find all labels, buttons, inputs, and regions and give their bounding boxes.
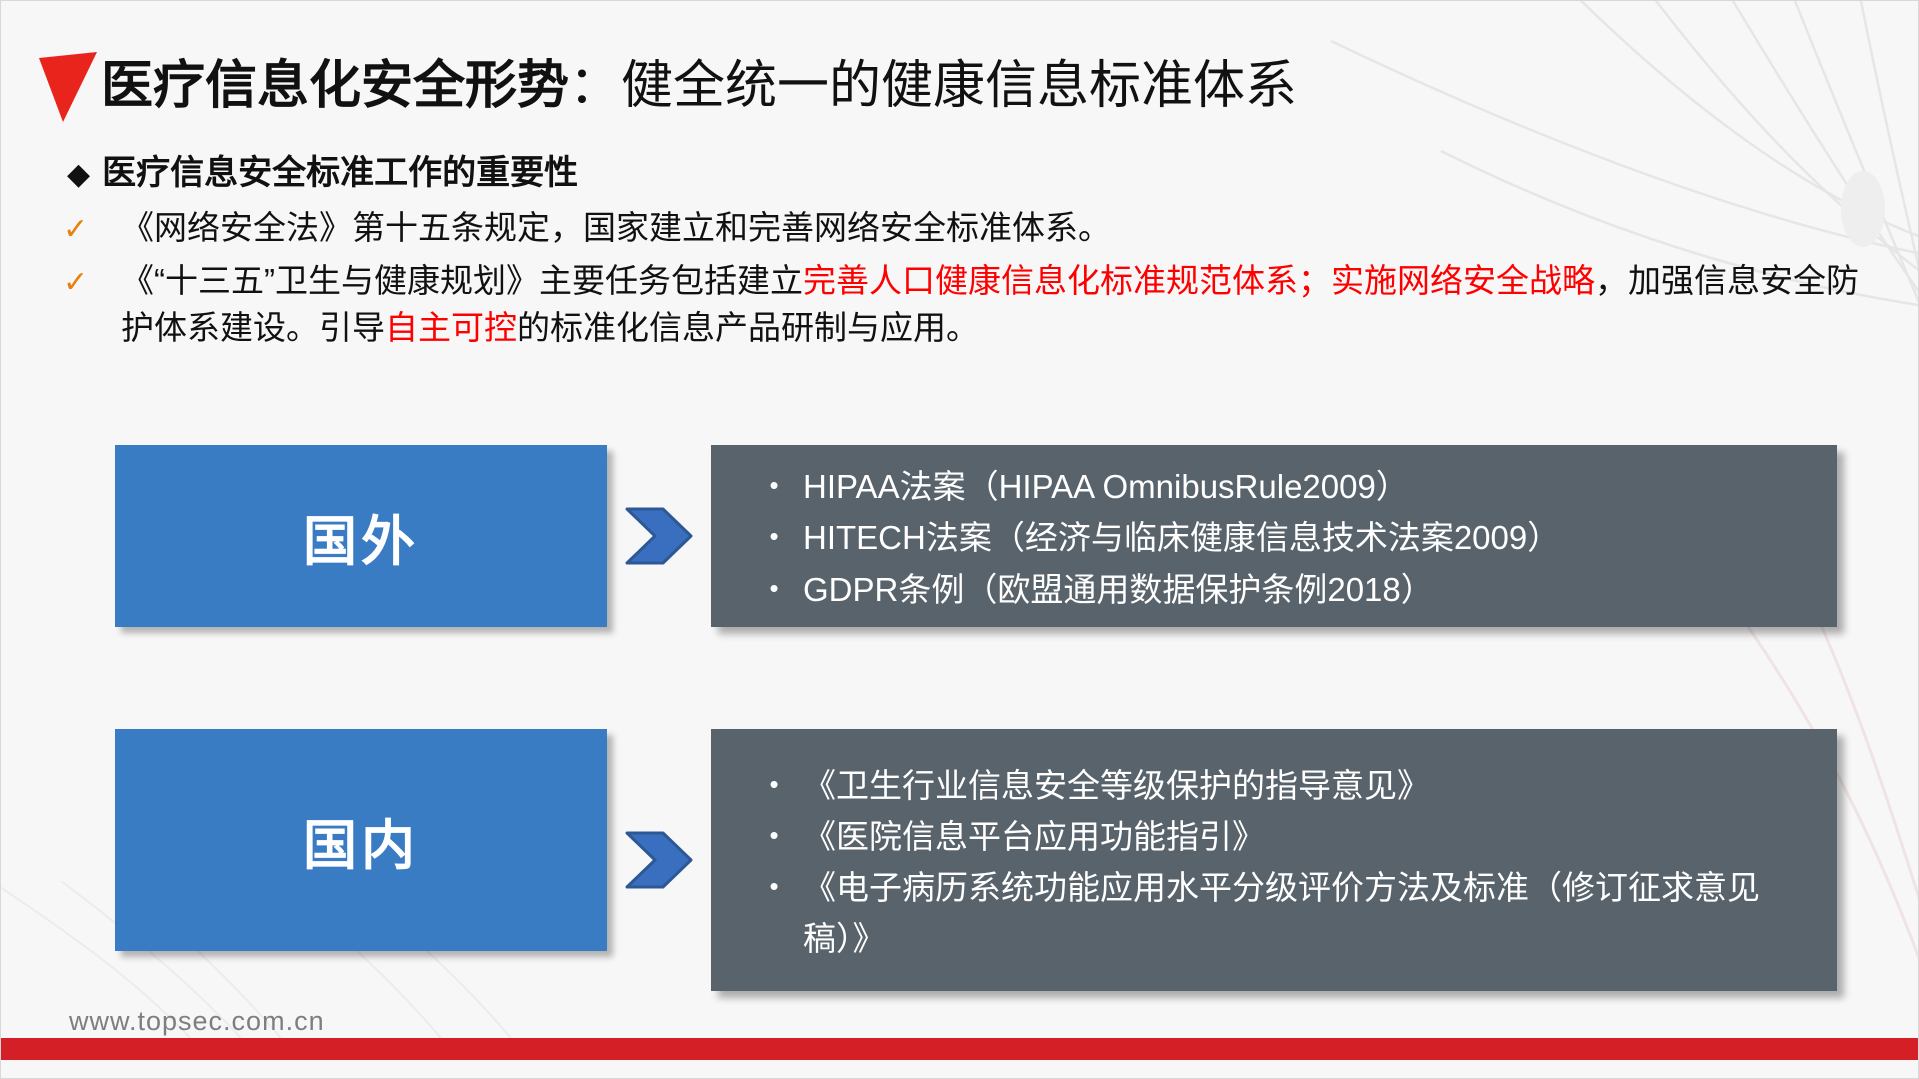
category-row-domestic: 国内 • 《卫生行业信息安全等级保护的指导意见》 • 《医院信息平台应用功能指引… (115, 729, 1837, 991)
arrow-connector (607, 729, 711, 991)
list-item-text: 《卫生行业信息安全等级保护的指导意见》 (803, 760, 1811, 811)
list-item-text: HIPAA法案（HIPAA OmnibusRule2009） (803, 461, 1811, 512)
page-title-rest: 健全统一的健康信息标准体系 (621, 57, 1297, 115)
page-title-separator: ： (569, 57, 621, 115)
category-label-text: 国内 (303, 801, 419, 880)
bullet-dot-icon: • (745, 760, 803, 808)
section-subtitle-text: 医疗信息安全标准工作的重要性 (102, 154, 578, 192)
bullet-dot-icon: • (745, 512, 803, 560)
bullet-segment-highlight: 完善人口健康信息化标准规范体系；实施网络安全战略 (803, 262, 1595, 299)
list-item: • 《卫生行业信息安全等级保护的指导意见》 (711, 760, 1837, 811)
page-title-bold: 医疗信息化安全形势 (101, 57, 569, 115)
bullet-dot-icon: • (745, 862, 803, 910)
list-item-text: 《电子病历系统功能应用水平分级评价方法及标准（修订征求意见稿）》 (803, 862, 1811, 964)
check-icon: ✓ (63, 205, 121, 252)
bullet-item: ✓ 《网络安全法》第十五条规定，国家建立和完善网络安全标准体系。 (63, 205, 1873, 252)
category-label-box[interactable]: 国外 (115, 445, 607, 627)
arrow-connector (607, 445, 711, 627)
list-item: • 《医院信息平台应用功能指引》 (711, 811, 1837, 862)
bullet-text: 《网络安全法》第十五条规定，国家建立和完善网络安全标准体系。 (121, 205, 1873, 252)
bullet-dot-icon: • (745, 811, 803, 859)
list-item: • HITECH法案（经济与临床健康信息技术法案2009） (711, 512, 1837, 563)
page-title: 医疗信息化安全形势：健全统一的健康信息标准体系 (101, 60, 1297, 112)
category-content-box: • 《卫生行业信息安全等级保护的指导意见》 • 《医院信息平台应用功能指引》 •… (711, 729, 1837, 991)
footer-white-strip (1, 1060, 1918, 1078)
red-triangle-icon (1, 46, 101, 126)
bullet-segment-highlight: 自主可控 (385, 309, 517, 346)
list-item: • HIPAA法案（HIPAA OmnibusRule2009） (711, 461, 1837, 512)
list-item-text: 《医院信息平台应用功能指引》 (803, 811, 1811, 862)
chevron-right-icon (623, 505, 695, 567)
list-item-text: GDPR条例（欧盟通用数据保护条例2018） (803, 564, 1811, 615)
bullet-text: 《“十三五”卫生与健康规划》主要任务包括建立完善人口健康信息化标准规范体系；实施… (121, 258, 1873, 352)
bullet-segment: 《“十三五”卫生与健康规划》主要任务包括建立 (121, 262, 803, 299)
footer-red-bar (1, 1038, 1918, 1060)
diamond-bullet-icon: ◆ (67, 158, 90, 191)
category-label-text: 国外 (303, 497, 419, 576)
bullet-segment: 的标准化信息产品研制与应用。 (517, 309, 979, 346)
bullet-list: ✓ 《网络安全法》第十五条规定，国家建立和完善网络安全标准体系。 ✓ 《“十三五… (63, 205, 1873, 352)
list-item: • GDPR条例（欧盟通用数据保护条例2018） (711, 564, 1837, 615)
list-item: • 《电子病历系统功能应用水平分级评价方法及标准（修订征求意见稿）》 (711, 862, 1837, 964)
category-label-box[interactable]: 国内 (115, 729, 607, 951)
bullet-item: ✓ 《“十三五”卫生与健康规划》主要任务包括建立完善人口健康信息化标准规范体系；… (63, 258, 1873, 352)
category-row-overseas: 国外 • HIPAA法案（HIPAA OmnibusRule2009） • HI… (115, 445, 1837, 627)
check-icon: ✓ (63, 258, 121, 305)
slide-canvas: 医疗信息化安全形势：健全统一的健康信息标准体系 ◆医疗信息安全标准工作的重要性 … (0, 0, 1919, 1079)
category-content-box: • HIPAA法案（HIPAA OmnibusRule2009） • HITEC… (711, 445, 1837, 627)
footer-website-url: www.topsec.com.cn (69, 1006, 325, 1037)
bullet-segment: 《网络安全法》第十五条规定，国家建立和完善网络安全标准体系。 (121, 209, 1111, 246)
bullet-dot-icon: • (745, 564, 803, 612)
slide-title-row: 医疗信息化安全形势：健全统一的健康信息标准体系 (1, 41, 1918, 131)
section-subtitle: ◆医疗信息安全标准工作的重要性 (67, 145, 578, 194)
bullet-dot-icon: • (745, 461, 803, 509)
list-item-text: HITECH法案（经济与临床健康信息技术法案2009） (803, 512, 1811, 563)
chevron-right-icon (623, 829, 695, 891)
